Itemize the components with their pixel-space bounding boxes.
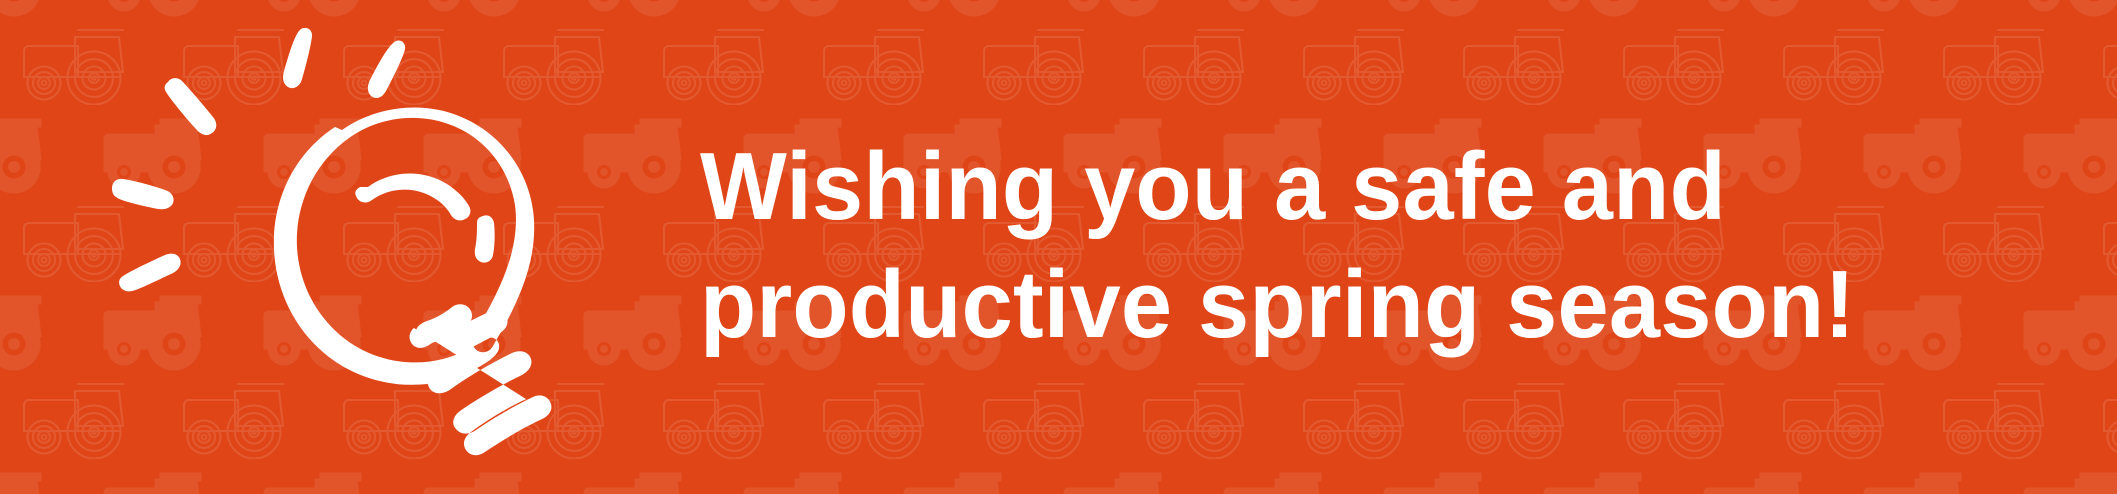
headline-line-1: Wishing you a safe and [700,127,1726,249]
promo-banner: Wishing you a safe and productive spring… [0,0,2117,494]
headline-block: Wishing you a safe and productive spring… [700,0,2100,494]
headline-line-2: productive spring season! [700,245,1855,367]
lightbulb-icon [96,12,556,452]
